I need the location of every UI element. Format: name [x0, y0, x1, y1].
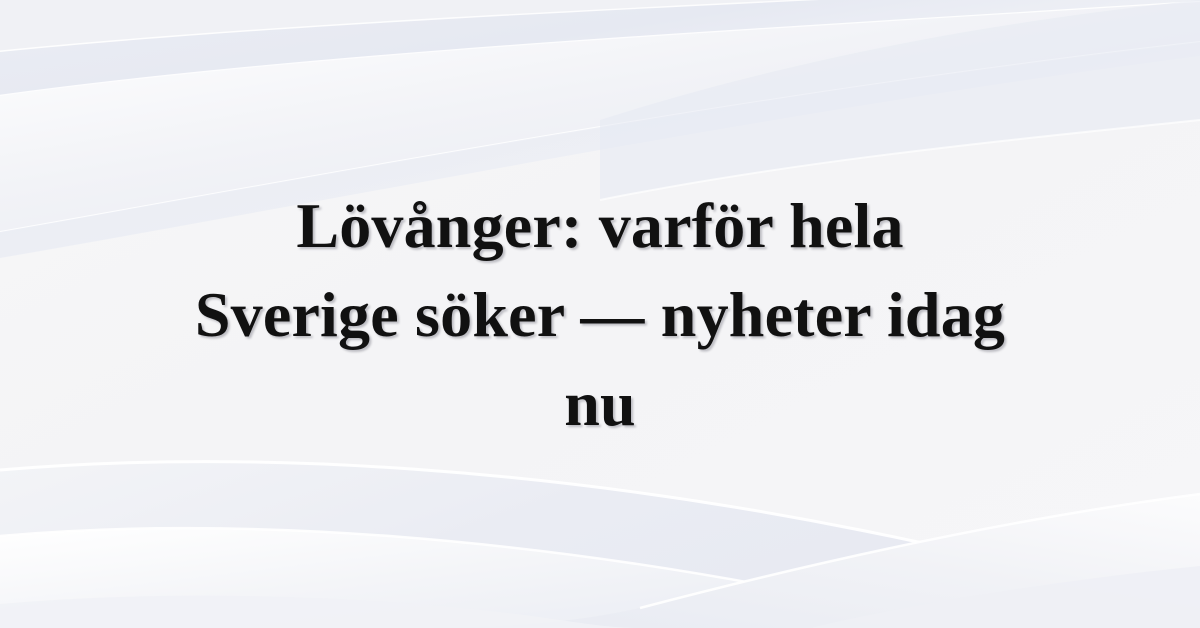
page-title: Lövånger: varför hela Sverige söker — ny…: [190, 181, 1010, 448]
share-card: Lövånger: varför hela Sverige söker — ny…: [0, 0, 1200, 628]
headline-container: Lövånger: varför hela Sverige söker — ny…: [0, 0, 1200, 628]
